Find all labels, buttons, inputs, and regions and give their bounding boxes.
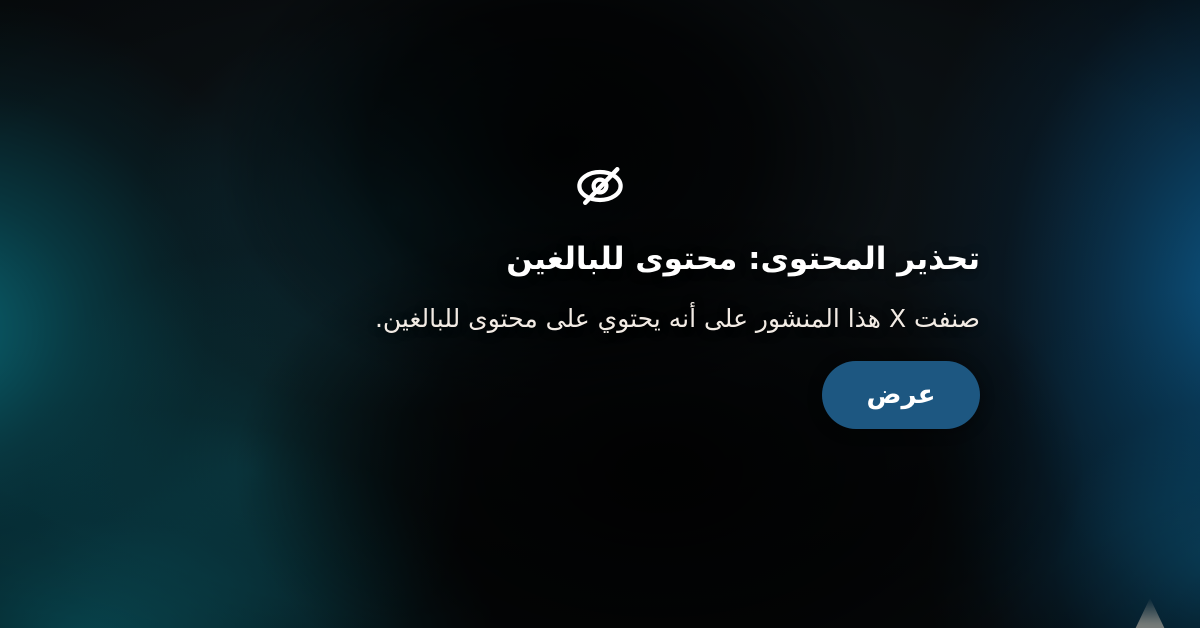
content-warning-overlay: تحذير المحتوى: محتوى للبالغين صنفت X هذا… <box>0 0 1200 628</box>
warning-action-row: عرض <box>220 361 980 429</box>
warning-text-block: تحذير المحتوى: محتوى للبالغين صنفت X هذا… <box>220 240 980 429</box>
eye-off-icon <box>570 156 630 216</box>
content-warning-title: تحذير المحتوى: محتوى للبالغين <box>220 240 980 280</box>
content-warning-description: صنفت X هذا المنشور على أنه يحتوي على محت… <box>220 302 980 336</box>
view-content-button[interactable]: عرض <box>822 361 980 429</box>
overlay-content: تحذير المحتوى: محتوى للبالغين صنفت X هذا… <box>0 0 1200 628</box>
